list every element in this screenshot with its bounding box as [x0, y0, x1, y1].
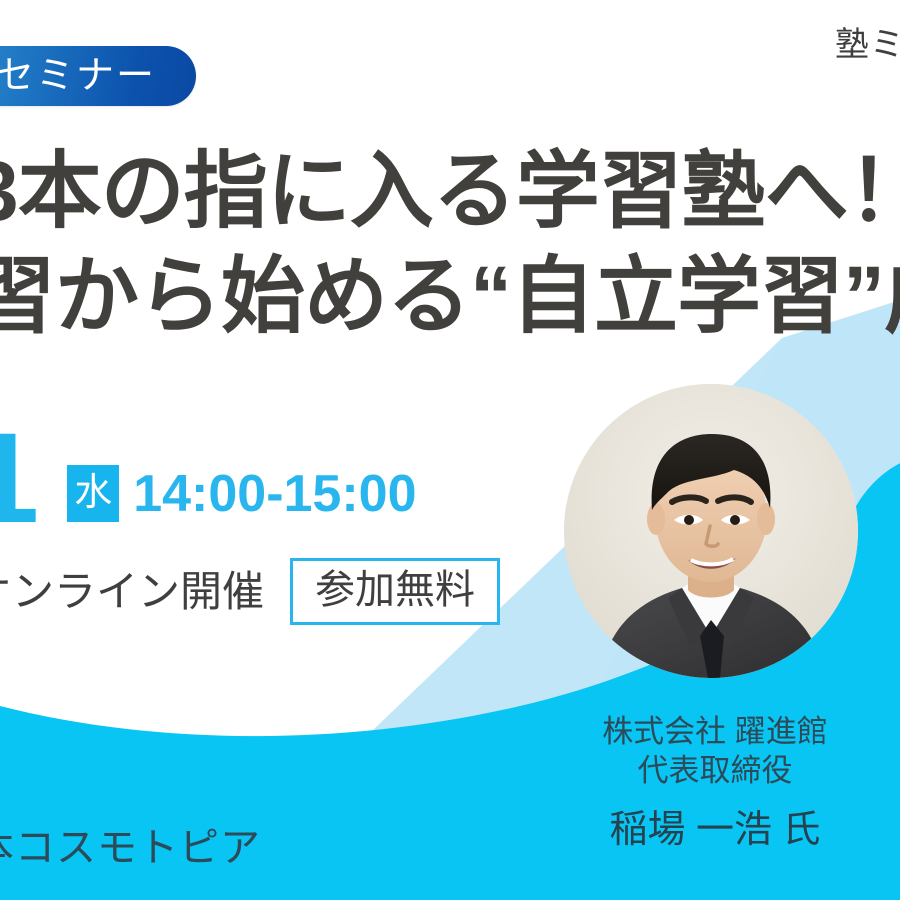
- cyan-right-shape: [852, 470, 900, 700]
- speaker-name: 稲場 一浩 氏: [545, 808, 885, 854]
- headline-line-2: 習から始める“自立学習”成: [0, 247, 900, 346]
- organizer: 本コスモトピア: [0, 828, 261, 868]
- speaker-photo: [564, 384, 858, 678]
- speaker-credit: 株式会社 躍進館 代表取締役 稲場 一浩 氏: [545, 712, 885, 854]
- event-date-number: 1: [0, 424, 37, 534]
- speaker-company: 株式会社 躍進館: [545, 712, 885, 751]
- seminar-badge-label: 料セミナー: [0, 57, 156, 95]
- seminar-banner: 料セミナー 塾ミラ 3本の指に入る学習塾へ！ 習から始める“自立学習”成 1 水…: [0, 0, 900, 900]
- speaker-role: 代表取締役: [545, 751, 885, 790]
- headline-line-1: 3本の指に入る学習塾へ！: [0, 142, 900, 241]
- event-format-label: オンライン開催: [0, 571, 264, 613]
- headline: 3本の指に入る学習塾へ！ 習から始める“自立学習”成: [0, 142, 900, 346]
- event-time: 14:00-15:00: [133, 468, 416, 520]
- event-datetime: 1 水 14:00-15:00: [0, 424, 417, 534]
- seminar-badge: 料セミナー: [0, 46, 196, 106]
- fee-badge: 参加無料: [290, 558, 500, 625]
- event-format-row: オンライン開催 参加無料: [0, 558, 500, 625]
- brand-logo: 塾ミラ: [835, 28, 900, 62]
- brand-logo-label: 塾ミラ: [835, 26, 900, 64]
- fee-badge-label: 参加無料: [315, 568, 475, 612]
- event-day-of-week-badge: 水: [67, 465, 119, 522]
- organizer-label: 本コスモトピア: [0, 826, 261, 870]
